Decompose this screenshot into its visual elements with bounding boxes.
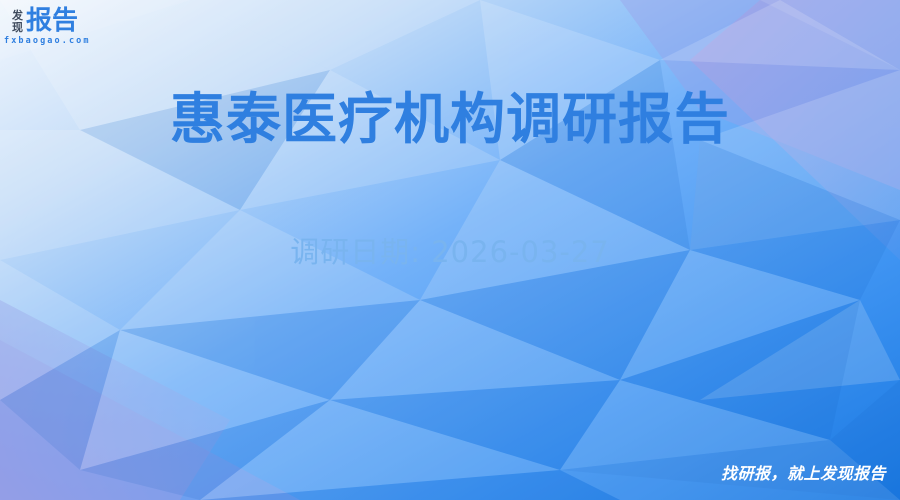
footer-tagline: 找研报，就上发现报告 bbox=[721, 464, 886, 484]
report-cover-slide: 发 现 报告 fxbaogao.com 惠泰医疗机构调研报告 调研日期: 202… bbox=[0, 0, 900, 500]
logo-domain-text: fxbaogao.com bbox=[4, 36, 91, 47]
logo-stacked-characters: 发 现 bbox=[12, 8, 23, 34]
title-block: 惠泰医疗机构调研报告 bbox=[0, 86, 900, 152]
brand-logo[interactable]: 发 现 报告 fxbaogao.com bbox=[12, 8, 91, 47]
logo-wordmark: 报告 bbox=[26, 8, 91, 35]
page-title: 惠泰医疗机构调研报告 bbox=[0, 86, 900, 152]
logo-wordmark-group: 报告 fxbaogao.com bbox=[26, 8, 91, 47]
logo-char-xian: 现 bbox=[12, 22, 23, 34]
page-subtitle: 调研日期: 2026-03-27 bbox=[0, 232, 900, 272]
